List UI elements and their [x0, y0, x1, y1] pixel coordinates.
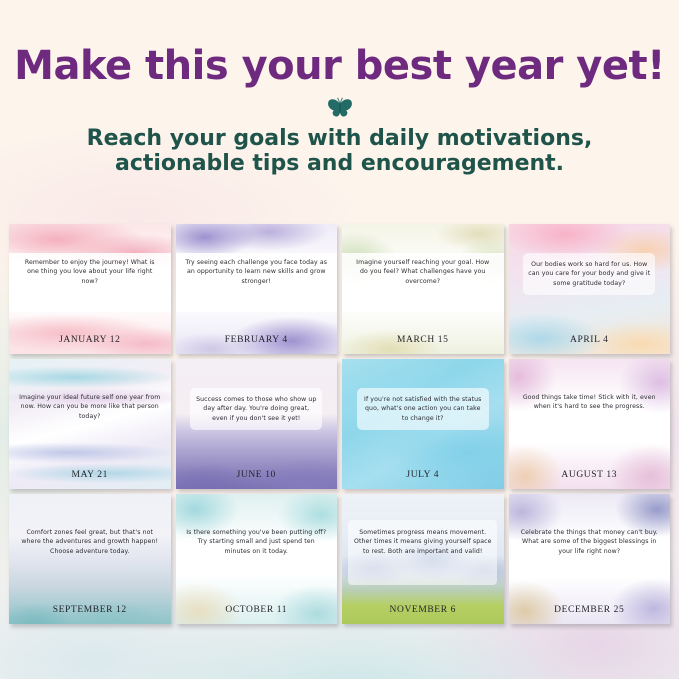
- card-quote: If you're not satisfied with the status …: [357, 388, 489, 431]
- card-date: NOVEMBER 6: [342, 605, 504, 615]
- card-quote: Is there something you've been putting o…: [185, 528, 327, 557]
- card-grid: Remember to enjoy the journey! What is o…: [9, 224, 670, 624]
- card-date: MAY 21: [9, 470, 171, 480]
- card-march[interactable]: Imagine yourself reaching your goal. How…: [342, 224, 504, 354]
- card-may[interactable]: Imagine your ideal future self one year …: [9, 359, 171, 489]
- card-date: MARCH 15: [342, 335, 504, 345]
- card-quote: Good things take time! Stick with it, ev…: [518, 393, 660, 412]
- card-date: JULY 4: [342, 470, 504, 480]
- card-quote: Imagine your ideal future self one year …: [19, 393, 161, 422]
- card-quote: Success comes to those who show up day a…: [190, 388, 322, 431]
- card-july[interactable]: If you're not satisfied with the status …: [342, 359, 504, 489]
- page-title: Make this your best year yet!: [0, 0, 679, 88]
- poster-page: Make this your best year yet! Reach your…: [0, 0, 679, 679]
- card-september[interactable]: Comfort zones feel great, but that's not…: [9, 494, 171, 624]
- card-december[interactable]: Celebrate the things that money can't bu…: [509, 494, 671, 624]
- card-quote: Comfort zones feel great, but that's not…: [19, 528, 161, 557]
- page-subtitle: Reach your goals with daily motivations,…: [0, 126, 679, 176]
- card-date: FEBRUARY 4: [176, 335, 338, 345]
- butterfly-icon: [0, 94, 679, 120]
- card-quote: Try seeing each challenge you face today…: [185, 258, 327, 287]
- card-february[interactable]: Try seeing each challenge you face today…: [176, 224, 338, 354]
- card-date: JANUARY 12: [9, 335, 171, 345]
- card-quote: Sometimes progress means movement. Other…: [352, 528, 494, 557]
- card-quote: Remember to enjoy the journey! What is o…: [19, 258, 161, 287]
- header: Make this your best year yet! Reach your…: [0, 0, 679, 176]
- card-january[interactable]: Remember to enjoy the journey! What is o…: [9, 224, 171, 354]
- card-october[interactable]: Is there something you've been putting o…: [176, 494, 338, 624]
- card-august[interactable]: Good things take time! Stick with it, ev…: [509, 359, 671, 489]
- card-june[interactable]: Success comes to those who show up day a…: [176, 359, 338, 489]
- card-date: OCTOBER 11: [176, 605, 338, 615]
- subtitle-line-1: Reach your goals with daily motivations,: [87, 126, 593, 151]
- card-april[interactable]: Our bodies work so hard for us. How can …: [509, 224, 671, 354]
- card-date: JUNE 10: [176, 470, 338, 480]
- card-november[interactable]: Sometimes progress means movement. Other…: [342, 494, 504, 624]
- card-quote: Imagine yourself reaching your goal. How…: [352, 258, 494, 287]
- card-date: AUGUST 13: [509, 470, 671, 480]
- card-date: APRIL 4: [509, 335, 671, 345]
- subtitle-line-2: actionable tips and encouragement.: [115, 151, 564, 176]
- card-date: DECEMBER 25: [509, 605, 671, 615]
- card-quote: Celebrate the things that money can't bu…: [518, 528, 660, 557]
- card-quote: Our bodies work so hard for us. How can …: [523, 253, 655, 296]
- card-date: SEPTEMBER 12: [9, 605, 171, 615]
